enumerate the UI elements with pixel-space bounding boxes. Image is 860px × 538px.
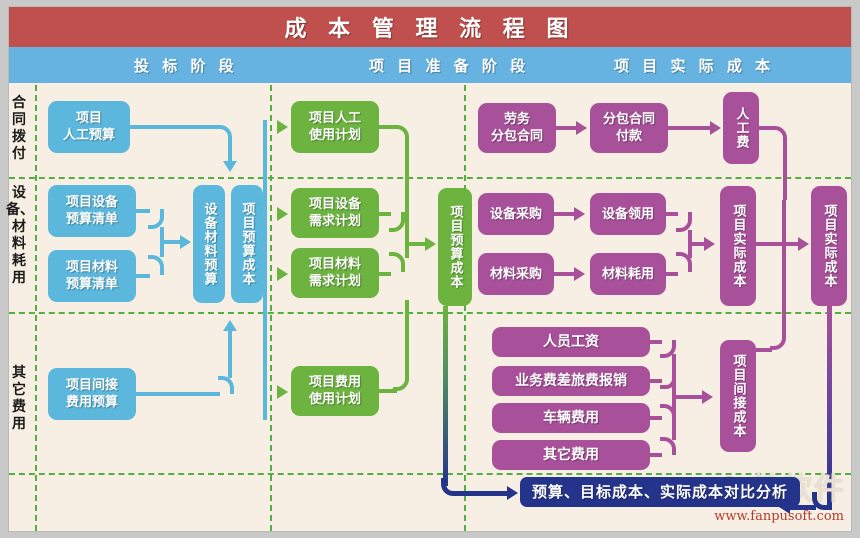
node-indirect-cost[interactable]: 项目间接成本 — [720, 340, 756, 452]
connector-expense-plan-v — [405, 300, 409, 374]
connector-actual-cost-h — [756, 242, 800, 246]
node-business-travel[interactable]: 业务费差旅费报销 — [492, 366, 650, 396]
node-actual-cost-mid[interactable]: 项目实际成本 — [720, 186, 756, 306]
flowchart-canvas: 成 本 管 理 流 程 图 投 标 阶 段 项 目 准 备 阶 段 项 目 实 … — [0, 0, 860, 538]
arrowhead-into-labor-use-plan — [277, 120, 288, 134]
grid-vline-1 — [35, 85, 37, 531]
connector-actual-to-compare-v — [827, 306, 832, 506]
connector-material-demand-h — [379, 272, 391, 276]
grid-vline-3 — [464, 85, 466, 531]
phase-label-actual-cost: 项 目 实 际 成 本 — [614, 47, 774, 83]
node-expense-use-plan[interactable]: 项目费用 使用计划 — [291, 366, 379, 416]
connector-indirect-cost-v — [782, 200, 786, 332]
diagram-title-bar: 成 本 管 理 流 程 图 — [9, 7, 851, 47]
node-other-expense[interactable]: 其它费用 — [492, 440, 650, 470]
connector-expense-merge-out — [672, 395, 704, 399]
node-labor-use-plan[interactable]: 项目人工 使用计划 — [291, 101, 379, 153]
page-title: 成 本 管 理 流 程 图 — [285, 11, 576, 43]
node-comparison-analysis[interactable]: 预算、目标成本、实际成本对比分析 — [520, 477, 800, 507]
arrowhead-labor-budget-down — [223, 161, 237, 172]
connector-material-purchase-h — [554, 272, 576, 276]
connector-blue-bus-v — [263, 120, 267, 420]
arrowhead-equip-material-budget — [180, 235, 191, 249]
connector-merge-out-h — [160, 240, 182, 244]
node-equipment-demand-plan[interactable]: 项目设备 需求计划 — [291, 188, 379, 238]
grid-hline-3 — [9, 473, 851, 475]
node-equip-material-budget[interactable]: 设备材料预算 — [193, 185, 225, 303]
node-indirect-expense-budget[interactable]: 项目间接 费用预算 — [48, 368, 136, 420]
connector-green-merge-out — [405, 242, 427, 246]
node-equipment-budget-list[interactable]: 项目设备 预算清单 — [48, 185, 136, 237]
connector-labor-plan-v — [405, 141, 409, 241]
connector-indirect-budget-h — [136, 392, 220, 396]
connector-budget-to-compare-v — [443, 306, 448, 486]
connector-labor-budget-h — [130, 125, 218, 129]
connector-consumption-h — [666, 272, 678, 276]
node-project-budget-cost-blue[interactable]: 项目预算成本 — [231, 185, 263, 303]
row-label-equipment-material: 设备、材料耗用 — [6, 185, 32, 287]
arrowhead-into-material-demand — [277, 267, 288, 281]
node-staff-salary[interactable]: 人员工资 — [492, 327, 650, 357]
node-equipment-purchase[interactable]: 设备采购 — [478, 193, 554, 235]
connector-subcontract-h1 — [556, 126, 578, 130]
arrowhead-indirect-budget-up — [223, 320, 237, 331]
arrowhead-actual-cost-mid — [704, 237, 715, 251]
node-material-purchase[interactable]: 材料采购 — [478, 253, 554, 295]
arrowhead-indirect-cost — [702, 390, 713, 404]
connector-labor-budget-v — [228, 139, 232, 163]
node-actual-cost-total[interactable]: 项目实际成本 — [811, 186, 847, 306]
grid-hline-1 — [9, 177, 851, 179]
arrowhead-project-budget-cost — [425, 237, 436, 251]
phase-label-bidding: 投 标 阶 段 — [134, 47, 238, 83]
row-label-other-expense: 其它费用 — [6, 365, 32, 433]
arrowhead-actual-cost-total — [798, 237, 809, 251]
row-label-contract-payment: 合同拨付 — [6, 95, 32, 163]
node-material-budget-list[interactable]: 项目材料 预算清单 — [48, 250, 136, 302]
connector-labor-fee-v — [783, 140, 787, 200]
connector-indirect-budget-v — [228, 330, 232, 378]
node-subcontract-payment[interactable]: 分包合同 付款 — [590, 103, 668, 153]
arrowhead-material-consumption — [574, 267, 585, 281]
grid-hline-2 — [9, 312, 851, 314]
connector-subcontract-h2 — [668, 126, 712, 130]
phase-header-bar: 投 标 阶 段 项 目 准 备 阶 段 项 目 实 际 成 本 — [9, 47, 851, 83]
node-labor-subcontract[interactable]: 劳务 分包合同 — [478, 103, 556, 153]
arrowhead-labor-fee — [710, 121, 721, 135]
grid-vline-2 — [270, 85, 272, 531]
node-material-consumption[interactable]: 材料耗用 — [590, 253, 666, 295]
connector-budget-to-compare-h — [455, 491, 509, 496]
arrowhead-comparison-left — [507, 486, 518, 500]
node-material-demand-plan[interactable]: 项目材料 需求计划 — [291, 248, 379, 298]
arrowhead-into-equipment-demand — [277, 207, 288, 221]
arrowhead-into-expense-use-plan — [277, 385, 288, 399]
connector-equip-purchase-h — [554, 212, 576, 216]
node-project-budget-cost-green[interactable]: 项目预算成本 — [438, 188, 472, 306]
node-labor-fee[interactable]: 人工费 — [723, 92, 759, 164]
arrowhead-equipment-issue — [574, 207, 585, 221]
node-vehicle-expense[interactable]: 车辆费用 — [492, 403, 650, 433]
arrowhead-subcontract-payment — [576, 121, 587, 135]
node-equipment-issue[interactable]: 设备领用 — [590, 193, 666, 235]
node-labor-budget[interactable]: 项目 人工预算 — [48, 101, 130, 153]
phase-label-preparation: 项 目 准 备 阶 段 — [369, 47, 529, 83]
